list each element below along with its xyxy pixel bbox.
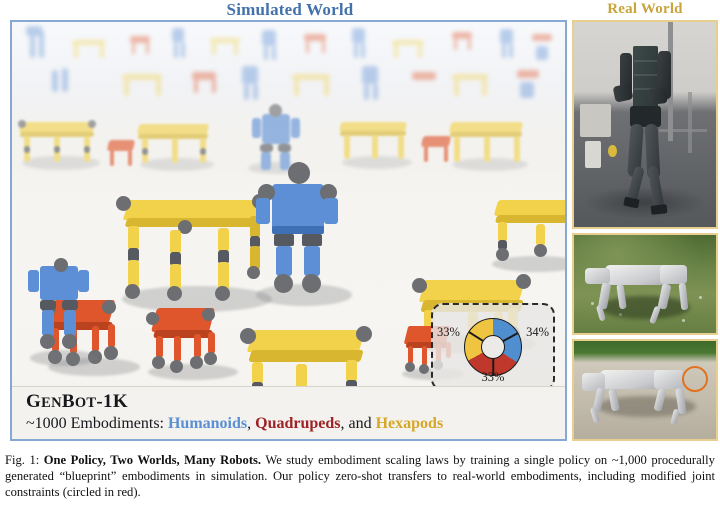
quadruped-robot [583,257,708,326]
sim-hexapod-robot [482,182,565,282]
caption-bold-title: One Policy, Two Worlds, Many Robots. [44,453,261,467]
genbot-title-b: B [62,391,75,412]
robot-forearm-left [612,83,633,102]
subtitle-sep-1: , [247,415,255,432]
photo-humanoid-robot-indoor [572,20,718,229]
robot-leg-front-2 [616,284,627,309]
sim-humanoid-robot [250,162,360,312]
caption-figure-number: Fig. 1: [5,453,39,467]
real-world-title: Real World [572,1,718,18]
keyword-humanoids: Humanoids [168,415,247,432]
embodiment-distribution-chart: 34% 33% 33% [431,303,555,391]
simulated-world-panel: 34% 33% 33% GENBOT-1K ~1000 Embodiments:… [10,20,567,441]
robot-hip-module [654,370,685,389]
figure-container: Simulated World Real World [0,0,720,448]
donut-center-hole [481,335,505,359]
robot-foot-left [623,196,639,208]
lab-pole [688,92,692,154]
torso-panel-line [634,74,656,76]
genbot-title-suffix: -1K [96,391,128,412]
simulated-world-title: Simulated World [10,0,570,20]
genbot-title-g: G [26,391,41,412]
chart-label-hexapods: 33% [437,325,460,340]
lab-bucket [585,141,601,168]
robot-leg-rear-2 [679,282,689,310]
keyword-hexapods: Hexapods [376,415,444,432]
robot-leg-rear [654,389,667,412]
genbot-subtitle: ~1000 Embodiments: Humanoids, Quadrupeds… [26,414,565,433]
robot-foot-right [650,204,667,214]
genbot-title-en: EN [41,395,62,411]
robot-foot-rear [670,408,680,426]
torso-panel-line [634,60,656,62]
genbot-title-ot: OT [75,395,97,411]
genbot-title: GENBOT-1K [26,392,565,413]
genbot-subtitle-prefix: ~1000 Embodiments: [26,415,168,432]
figure-caption: Fig. 1: One Policy, Two Worlds, Many Rob… [5,452,715,501]
humanoid-robot [614,43,688,219]
robot-leg-front-2 [608,389,619,412]
keyword-quadrupeds: Quadrupeds [255,415,340,432]
photo-quadruped-robot-gravel [572,339,718,441]
photo-quadruped-robot-grass [572,233,718,335]
chart-label-humanoids: 34% [526,325,549,340]
subtitle-sep-2: , and [341,415,376,432]
sim-humanoid-robot [26,258,106,368]
robot-hip-module [660,265,687,284]
chart-label-quadrupeds: 33% [433,370,553,385]
robot-foot-rear [650,305,662,324]
robot-head [585,268,610,284]
lab-equipment [580,104,611,137]
robot-forearm-right [647,87,668,105]
real-world-panel [572,20,718,441]
robot-leg-rear [658,283,672,309]
genbot-label-block: GENBOT-1K ~1000 Embodiments: Humanoids, … [12,386,565,439]
